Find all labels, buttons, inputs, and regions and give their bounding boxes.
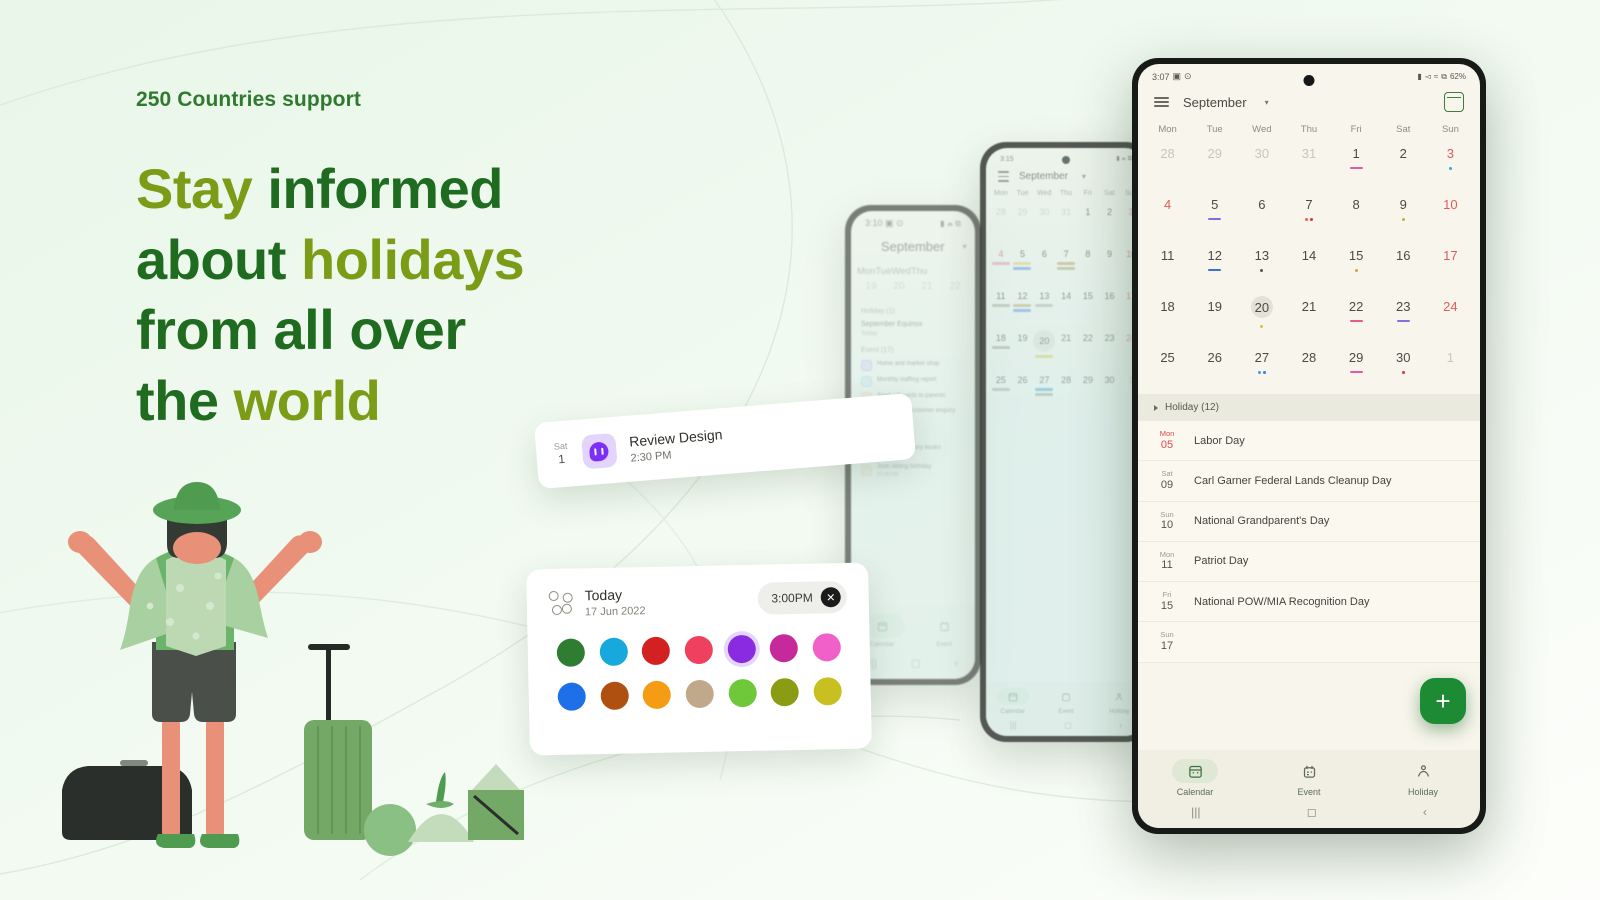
calendar-day-cell[interactable]: 16 xyxy=(1099,284,1121,326)
calendar-day-cell[interactable]: 8 xyxy=(1333,190,1380,241)
color-picker-card[interactable]: Today 17 Jun 2022 3:00PM ✕ xyxy=(526,562,872,755)
event-text: Home and market shop xyxy=(877,361,939,369)
status-icons: ▮ ⩕ ⧉ xyxy=(940,219,961,229)
calendar-day-number: 28 xyxy=(1302,351,1316,364)
calendar-day-cell[interactable]: 28 xyxy=(1144,139,1191,190)
expand-triangle-icon xyxy=(1154,405,1158,411)
event-marker xyxy=(1350,320,1363,322)
holiday-day-number: 10 xyxy=(1154,519,1180,532)
day-event-markers xyxy=(1402,217,1405,221)
weekday-tue: Tue xyxy=(875,266,891,277)
calendar-day-number: 7 xyxy=(1064,250,1069,259)
day-event-markers xyxy=(992,304,1010,307)
color-palette-icon xyxy=(549,591,573,615)
calendar-day-number: 21 xyxy=(1302,300,1316,313)
day-event-markers xyxy=(1350,166,1363,170)
calendar-day-number: 29 xyxy=(1083,376,1093,385)
add-event-fab[interactable]: + xyxy=(1420,678,1466,724)
weekday-wed: Wed xyxy=(1033,190,1055,197)
day-event-markers xyxy=(1350,319,1363,323)
calendar-day-cell[interactable]: 22 xyxy=(1333,292,1380,343)
mini-date: 20 xyxy=(885,281,913,292)
calendar-day-cell[interactable]: 8 xyxy=(1077,242,1099,284)
event-card-day: 1 xyxy=(554,452,569,467)
calendar-day-cell[interactable]: 11 xyxy=(1144,241,1191,292)
calendar-day-cell[interactable]: 20 xyxy=(1033,326,1055,368)
calendar-day-cell[interactable]: 31 xyxy=(1055,200,1077,242)
color-swatch-tan[interactable] xyxy=(685,680,714,709)
calendar-day-number: 25 xyxy=(1160,351,1174,364)
plus-icon: + xyxy=(1435,686,1450,717)
event-marker xyxy=(992,304,1010,307)
nav-item-event[interactable]: Event xyxy=(1039,688,1092,715)
home-icon[interactable]: ◻ xyxy=(1064,720,1071,731)
day-event-markers xyxy=(1208,217,1221,221)
nav-item-calendar[interactable]: Calendar xyxy=(1138,759,1252,797)
calendar-day-cell[interactable]: 27 xyxy=(1238,343,1285,394)
event-card-text: Review Design 2:30 PM xyxy=(629,426,725,464)
color-swatch-blue[interactable] xyxy=(558,682,587,711)
calendar-day-number: 16 xyxy=(1104,292,1114,301)
hamburger-icon[interactable] xyxy=(1154,97,1169,107)
calendar-day-cell[interactable]: 29 xyxy=(1191,139,1238,190)
calendar-day-cell[interactable]: 1 xyxy=(1427,343,1474,394)
day-event-markers xyxy=(1350,370,1363,374)
color-swatch-light-green[interactable] xyxy=(728,679,757,708)
chevron-down-icon: ▾ xyxy=(1082,172,1086,181)
leg-right xyxy=(206,716,224,840)
calendar-day-cell[interactable]: 15 xyxy=(1077,284,1099,326)
dnd-icon: ⊙ xyxy=(1184,71,1192,82)
calendar-day-cell[interactable]: 13 xyxy=(1238,241,1285,292)
holiday-dow: Mon xyxy=(1154,551,1180,560)
holiday-date: Mon11 xyxy=(1154,551,1180,572)
holiday-dow: Sun xyxy=(1154,631,1180,640)
calendar-day-number: 31 xyxy=(1061,208,1071,217)
calendar-day-number: 22 xyxy=(1083,334,1093,343)
event-marker xyxy=(1035,355,1053,358)
calendar-day-number: 6 xyxy=(1042,250,1047,259)
event-marker xyxy=(1035,393,1053,396)
weekday-sat: Sat xyxy=(1380,124,1427,135)
holiday-date: Mon05 xyxy=(1154,430,1180,451)
weekday-mon: Mon xyxy=(1144,124,1191,135)
holiday-name: National Grandparent's Day xyxy=(1194,515,1329,527)
holiday-day-number: 11 xyxy=(1154,559,1180,572)
mini-date: 19 xyxy=(857,281,885,292)
chat-bubble-icon xyxy=(581,433,618,470)
color-swatch-grid xyxy=(550,633,849,711)
nav-label-holiday: Holiday xyxy=(1109,709,1129,715)
recents-icon[interactable]: ||| xyxy=(1191,805,1200,819)
event-marker xyxy=(992,262,1010,265)
recents-icon[interactable]: ||| xyxy=(1010,720,1017,731)
day-event-markers xyxy=(992,346,1010,349)
hat-crown xyxy=(174,482,220,510)
calendar-day-number: 28 xyxy=(996,208,1006,217)
status-time: 3:15 xyxy=(1000,156,1014,163)
page-title: Stay informed about holidays from all ov… xyxy=(136,154,524,436)
holiday-date: Fri15 xyxy=(1154,591,1180,612)
back-icon[interactable]: ‹ xyxy=(954,656,958,670)
calendar-day-number: 18 xyxy=(1160,300,1174,313)
holiday-icon xyxy=(1103,688,1135,705)
hill-shape xyxy=(408,814,474,842)
headline-line-4: the world xyxy=(136,366,524,437)
holiday-list-item[interactable]: Mon11Patriot Day xyxy=(1138,542,1480,582)
calendar-day-number: 29 xyxy=(1017,208,1027,217)
day-event-markers xyxy=(1208,268,1221,272)
event-list-item[interactable]: Josh sibling birthday07:00 PM xyxy=(861,464,965,478)
calendar-day-number: 9 xyxy=(1400,198,1407,211)
calendar-day-number: 14 xyxy=(1061,292,1071,301)
nav-item-event[interactable]: Event xyxy=(1252,759,1366,797)
calendar-day-number: 13 xyxy=(1255,249,1269,262)
calendar-day-cell[interactable]: 19 xyxy=(1191,292,1238,343)
event-color-icon xyxy=(861,376,872,387)
calendar-day-number: 8 xyxy=(1353,198,1360,211)
mini-date-row: 19 20 21 22 xyxy=(851,281,975,292)
time-chip[interactable]: 3:00PM ✕ xyxy=(757,581,847,615)
calendar-day-number: 31 xyxy=(1302,147,1316,160)
calendar-day-cell[interactable]: 11 xyxy=(990,284,1012,326)
month-grid-mid: 2829303112345678910111213141516171819202… xyxy=(986,200,1146,410)
calendar-day-cell[interactable]: 9 xyxy=(1099,242,1121,284)
calendar-day-cell[interactable]: 1 xyxy=(1077,200,1099,242)
holiday-list-item[interactable]: Fri15National POW/MIA Recognition Day xyxy=(1138,582,1480,622)
nav-item-holiday[interactable]: Holiday xyxy=(1366,759,1480,797)
calendar-day-cell[interactable]: 19 xyxy=(1012,326,1034,368)
battery-label: 62% xyxy=(1450,72,1466,81)
event-marker xyxy=(1350,167,1363,169)
calendar-icon xyxy=(1172,759,1218,783)
status-time: 3:10 ▣ ⊙ xyxy=(865,218,904,229)
event-marker xyxy=(1260,269,1263,272)
calendar-day-number: 11 xyxy=(1161,249,1175,262)
day-event-markers xyxy=(1258,370,1266,374)
color-swatch-brown[interactable] xyxy=(600,681,629,710)
calendar-day-number: 6 xyxy=(1258,198,1265,211)
event-marker xyxy=(1397,320,1410,322)
color-swatch-purple[interactable] xyxy=(727,635,756,664)
event-marker xyxy=(1035,388,1053,391)
calendar-day-cell[interactable]: 28 xyxy=(990,200,1012,242)
event-marker xyxy=(1402,371,1405,374)
calendar-icon xyxy=(997,688,1029,705)
color-swatch-hot-pink[interactable] xyxy=(812,633,841,662)
holiday-day-number: 05 xyxy=(1154,439,1180,452)
event-list-item[interactable]: Home and market shop xyxy=(861,360,965,371)
holiday-list: Mon05Labor DaySat09Carl Garner Federal L… xyxy=(1138,421,1480,663)
headline-word-about: about xyxy=(136,228,301,291)
calendar-day-cell[interactable]: 16 xyxy=(1380,241,1427,292)
calendar-day-cell[interactable]: 21 xyxy=(1285,292,1332,343)
today-label: Today xyxy=(584,586,645,603)
calendar-day-cell[interactable]: 25 xyxy=(1144,343,1191,394)
holiday-dow: Fri xyxy=(1154,591,1180,600)
event-color-icon xyxy=(861,360,872,371)
holiday-day-number: 09 xyxy=(1154,479,1180,492)
calendar-day-cell[interactable]: 1 xyxy=(1333,139,1380,190)
color-swatch-red[interactable] xyxy=(642,637,671,666)
weekday-fri: Fri xyxy=(1333,124,1380,135)
calendar-day-cell[interactable]: 28 xyxy=(1285,343,1332,394)
time-value: 3:00PM xyxy=(771,591,813,606)
calendar-day-cell[interactable]: 27 xyxy=(1033,368,1055,410)
calendar-day-number: 1 xyxy=(1447,351,1454,364)
overshirt-body xyxy=(166,552,226,656)
nav-label-event: Event xyxy=(1058,709,1073,715)
calendar-day-cell[interactable]: 21 xyxy=(1055,326,1077,368)
event-marker xyxy=(1208,218,1221,220)
color-card-header: Today 17 Jun 2022 3:00PM ✕ xyxy=(548,581,847,619)
calendar-day-number: 30 xyxy=(1039,208,1049,217)
plant-leaf xyxy=(426,801,454,808)
day-event-markers xyxy=(1305,217,1313,221)
calendar-day-cell[interactable]: 6 xyxy=(1033,242,1055,284)
holiday-icon xyxy=(1400,759,1446,783)
hero-text-block: 250 Countries support Stay informed abou… xyxy=(136,88,524,436)
calendar-day-cell[interactable]: 23 xyxy=(1099,326,1121,368)
month-title[interactable]: September xyxy=(1019,171,1068,182)
event-color-icon xyxy=(861,465,872,476)
signal-icon: ⧉ xyxy=(1441,72,1447,82)
wifi-icon: ≈ xyxy=(1434,72,1438,81)
shoe-left xyxy=(156,834,195,848)
calendar-day-number: 18 xyxy=(996,334,1006,343)
calendar-day-cell[interactable]: 2 xyxy=(1099,200,1121,242)
bluetooth-icon: ▮ xyxy=(1417,72,1421,81)
eyebrow-text: 250 Countries support xyxy=(136,88,524,112)
headline-word-holidays: holidays xyxy=(301,228,524,291)
event-marker xyxy=(1013,267,1031,270)
calendar-day-number: 13 xyxy=(1039,292,1049,301)
calendar-day-number: 20 xyxy=(1033,330,1055,352)
calendar-day-number: 20 xyxy=(1251,296,1273,318)
color-swatch-pink-red[interactable] xyxy=(685,636,714,665)
weekday-mon: Mon xyxy=(990,190,1012,197)
calendar-day-cell[interactable]: 30 xyxy=(1380,343,1427,394)
calendar-day-cell[interactable]: 12 xyxy=(1012,284,1034,326)
chevron-down-icon[interactable]: ▾ xyxy=(1265,98,1269,107)
calendar-day-cell[interactable]: 17 xyxy=(1427,241,1474,292)
weekday-thu: Thu xyxy=(1055,190,1077,197)
event-marker xyxy=(1263,371,1266,374)
calendar-day-cell[interactable]: 4 xyxy=(990,242,1012,284)
color-swatch-forest-green[interactable] xyxy=(557,638,586,667)
day-event-markers xyxy=(992,388,1010,391)
home-icon[interactable]: ◻ xyxy=(911,656,921,670)
plant-stem xyxy=(436,772,446,802)
calendar-day-number: 23 xyxy=(1104,334,1114,343)
nav-label-holiday: Holiday xyxy=(1408,787,1438,797)
holiday-day-number: 17 xyxy=(1154,640,1180,653)
status-right: ▮ ◅ ≈ ⧉ 62% xyxy=(1417,72,1466,82)
holiday-dow: Mon xyxy=(1154,430,1180,439)
event-marker xyxy=(1355,269,1358,272)
color-swatch-orange[interactable] xyxy=(643,681,672,710)
calendar-day-cell[interactable]: 30 xyxy=(1099,368,1121,410)
status-icons: ▮ ⩕ ⧉ xyxy=(1116,155,1132,163)
calendar-day-cell[interactable]: 24 xyxy=(1427,292,1474,343)
calendar-day-number: 11 xyxy=(996,292,1005,301)
calendar-day-cell[interactable]: 3 xyxy=(1427,139,1474,190)
camera-punch-hole xyxy=(1304,75,1315,86)
calendar-day-number: 27 xyxy=(1255,351,1269,364)
mini-date: 22 xyxy=(941,281,969,292)
calendar-day-cell[interactable]: 25 xyxy=(990,368,1012,410)
calendar-day-number: 15 xyxy=(1083,292,1093,301)
day-event-markers xyxy=(1057,262,1075,270)
holiday-header-label: Holiday (12) xyxy=(1165,402,1219,413)
calendar-day-cell[interactable]: 14 xyxy=(1055,284,1077,326)
app-bar-left-phone: September ▾ xyxy=(851,231,975,264)
headline-word-stay: Stay xyxy=(136,157,267,220)
calendar-day-cell[interactable]: 14 xyxy=(1285,241,1332,292)
calendar-day-number: 29 xyxy=(1349,351,1363,364)
weekday-sun: Sun xyxy=(1427,124,1474,135)
nav-item-calendar[interactable]: Calendar xyxy=(986,688,1039,715)
calendar-day-cell[interactable]: 4 xyxy=(1144,190,1191,241)
phone-middle: 3:15 ▮ ⩕ ⧉ September ▾ Mon Tue Wed Thu F… xyxy=(980,142,1152,742)
headline-word-world: world xyxy=(234,369,381,432)
calendar-day-cell[interactable]: 5 xyxy=(1191,190,1238,241)
day-event-markers xyxy=(1397,319,1410,323)
calendar-day-cell[interactable]: 10 xyxy=(1427,190,1474,241)
calendar-day-number: 1 xyxy=(1085,208,1090,217)
calendar-day-cell[interactable]: 23 xyxy=(1380,292,1427,343)
chevron-down-icon: ▾ xyxy=(963,242,967,251)
calendar-day-cell[interactable]: 26 xyxy=(1012,368,1034,410)
color-swatch-cyan-blue[interactable] xyxy=(599,637,628,666)
mini-date: 21 xyxy=(913,281,941,292)
event-time: 07:00 PM xyxy=(877,472,931,478)
holiday-date: Sat09 xyxy=(1154,470,1180,491)
nav-label-calendar: Calendar xyxy=(1177,787,1214,797)
calendar-day-number: 7 xyxy=(1305,198,1312,211)
agenda-item-sub: Today xyxy=(861,331,965,337)
calendar-day-cell[interactable]: 7 xyxy=(1285,190,1332,241)
holiday-list-item[interactable]: Sun17 xyxy=(1138,622,1480,662)
holiday-list-item[interactable]: Mon05Labor Day xyxy=(1138,421,1480,461)
calendar-day-cell[interactable]: 26 xyxy=(1191,343,1238,394)
system-nav-bar: ||| ◻ ‹ xyxy=(986,715,1146,735)
calendar-day-cell[interactable]: 20 xyxy=(1238,292,1285,343)
calendar-day-number: 12 xyxy=(1017,292,1027,301)
calendar-day-cell[interactable]: 15 xyxy=(1333,241,1380,292)
calendar-day-cell[interactable]: 6 xyxy=(1238,190,1285,241)
calendar-day-cell[interactable]: 2 xyxy=(1380,139,1427,190)
calendar-day-cell[interactable]: 29 xyxy=(1012,200,1034,242)
calendar-day-cell[interactable]: 28 xyxy=(1055,368,1077,410)
holiday-date: Sun17 xyxy=(1154,631,1180,652)
event-icon xyxy=(921,614,967,638)
fist-left xyxy=(68,531,92,553)
color-swatch-magenta[interactable] xyxy=(770,634,799,663)
close-icon[interactable]: ✕ xyxy=(821,587,841,607)
nav-item-event[interactable]: Event xyxy=(913,614,975,648)
hamburger-icon[interactable] xyxy=(998,171,1009,181)
shoe-right xyxy=(200,834,239,848)
calendar-day-cell[interactable]: 9 xyxy=(1380,190,1427,241)
calendar-day-cell[interactable]: 18 xyxy=(1144,292,1191,343)
agenda-item[interactable]: September Equinox xyxy=(861,320,965,331)
holiday-day-number: 15 xyxy=(1154,600,1180,613)
calendar-day-cell[interactable]: 13 xyxy=(1033,284,1055,326)
traveler-illustration xyxy=(40,430,560,860)
holiday-dow: Sat xyxy=(1154,470,1180,479)
holiday-section-header[interactable]: Holiday (12) xyxy=(1138,394,1480,421)
event-title: Monthly staffing report xyxy=(877,377,936,385)
nav-label-event: Event xyxy=(1297,787,1320,797)
section-header-holiday: Holiday (1) xyxy=(861,308,965,315)
day-event-markers xyxy=(1355,268,1358,272)
weekday-wed: Wed xyxy=(1238,124,1285,135)
nav-label-calendar: Calendar xyxy=(1000,709,1024,715)
calendar-day-number: 26 xyxy=(1017,376,1027,385)
color-swatch-yellow-olive[interactable] xyxy=(813,677,842,706)
calendar-day-cell[interactable]: 29 xyxy=(1077,368,1099,410)
event-list-item[interactable]: Monthly staffing report xyxy=(861,376,965,387)
calendar-day-cell[interactable]: 12 xyxy=(1191,241,1238,292)
calendar-day-cell[interactable]: 7 xyxy=(1055,242,1077,284)
calendar-day-number: 5 xyxy=(1211,198,1218,211)
calendar-day-number: 12 xyxy=(1207,249,1221,262)
month-title[interactable]: September xyxy=(881,239,945,254)
today-date: 17 Jun 2022 xyxy=(585,605,646,618)
day-event-markers xyxy=(1035,355,1053,358)
back-icon[interactable]: ‹ xyxy=(1423,805,1427,819)
back-icon[interactable]: ‹ xyxy=(1119,720,1122,731)
headline-line-3: from all over xyxy=(136,295,524,366)
event-marker xyxy=(1057,267,1075,270)
event-marker xyxy=(1402,218,1405,221)
home-icon[interactable]: ◻ xyxy=(1307,805,1317,819)
calendar-day-cell[interactable]: 5 xyxy=(1012,242,1034,284)
calendar-day-number: 4 xyxy=(998,250,1003,259)
holiday-list-item[interactable]: Sun10National Grandparent's Day xyxy=(1138,502,1480,542)
calendar-day-cell[interactable]: 30 xyxy=(1033,200,1055,242)
calendar-icon[interactable] xyxy=(1444,92,1464,112)
calendar-day-cell[interactable]: 30 xyxy=(1238,139,1285,190)
holiday-name: Carl Garner Federal Lands Cleanup Day xyxy=(1194,475,1392,487)
day-event-markers xyxy=(1035,388,1053,396)
calendar-day-cell[interactable]: 29 xyxy=(1333,343,1380,394)
day-event-markers xyxy=(1402,370,1405,374)
event-marker xyxy=(1449,167,1452,170)
headline-word-informed: informed xyxy=(267,157,503,220)
holiday-list-item[interactable]: Sat09Carl Garner Federal Lands Cleanup D… xyxy=(1138,461,1480,501)
calendar-day-cell[interactable]: 31 xyxy=(1285,139,1332,190)
event-marker xyxy=(1260,325,1263,328)
app-bar: September ▾ xyxy=(1138,84,1480,122)
nav-label-event: Event xyxy=(936,642,951,648)
month-title[interactable]: September xyxy=(1183,95,1247,110)
alarm-icon: ▣ xyxy=(1173,71,1182,82)
event-title: Home and market shop xyxy=(877,361,939,369)
status-left: 3:07 ▣ ⊙ xyxy=(1152,71,1192,82)
headline-line-2: about holidays xyxy=(136,225,524,296)
holiday-name: Patriot Day xyxy=(1194,555,1248,567)
calendar-day-number: 21 xyxy=(1061,334,1071,343)
month-grid: 2829303112345678910111213141516171819202… xyxy=(1138,139,1480,394)
calendar-day-number: 22 xyxy=(1349,300,1363,313)
color-swatch-olive[interactable] xyxy=(771,678,800,707)
calendar-day-cell[interactable]: 18 xyxy=(990,326,1012,368)
weekday-thu: Thu xyxy=(911,266,927,277)
calendar-day-cell[interactable]: 22 xyxy=(1077,326,1099,368)
calendar-day-number: 19 xyxy=(1207,300,1221,313)
